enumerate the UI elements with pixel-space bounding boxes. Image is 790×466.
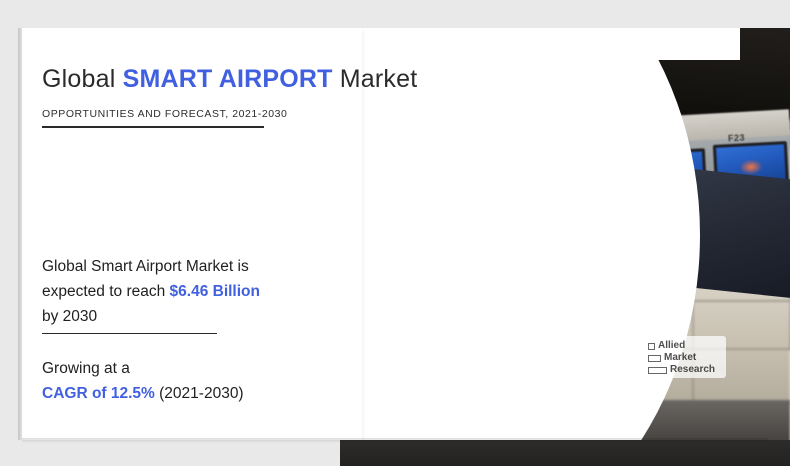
cagr-period: (2021-2030)	[155, 385, 244, 402]
logo-row-research: Research	[648, 365, 715, 375]
page-subtitle: OPPORTUNITIES AND FORECAST, 2021-2030	[42, 108, 287, 120]
title-suffix: Market	[333, 65, 418, 93]
cagr-statement: Growing at aCAGR of 12.5% (2021-2030)	[42, 356, 342, 406]
title-highlight: SMART AIRPORT	[123, 65, 333, 93]
logo-bar-1	[648, 343, 655, 350]
logo-text-research: Research	[670, 365, 715, 375]
market-value: $6.46 Billion	[170, 283, 260, 300]
title-prefix: Global	[42, 65, 123, 93]
logo-bar-3	[648, 367, 667, 374]
text-layer: Global SMART AIRPORT Market OPPORTUNITIE…	[0, 0, 790, 466]
market-value-statement: Global Smart Airport Market isexpected t…	[42, 254, 332, 329]
growth-label: Growing at a	[42, 360, 130, 377]
logo-text-allied: Allied	[658, 341, 685, 351]
market-line-3: by 2030	[42, 308, 97, 325]
logo-bar-2	[648, 355, 661, 362]
allied-market-research-logo[interactable]: Allied Market Research	[644, 336, 726, 388]
logo-text-market: Market	[664, 353, 696, 363]
page-title: Global SMART AIRPORT Market	[42, 65, 402, 94]
market-line-2-prefix: expected to reach	[42, 283, 170, 300]
section-divider	[42, 333, 217, 334]
logo-bubble-tail	[652, 377, 659, 388]
logo-row-allied: Allied	[648, 341, 685, 351]
logo-row-market: Market	[648, 353, 696, 363]
cagr-value: CAGR of 12.5%	[42, 385, 155, 402]
infographic-banner: F17 F19 F21 F23 Boarding	[0, 0, 790, 466]
market-line-1: Global Smart Airport Market is	[42, 258, 249, 275]
title-underline	[42, 126, 264, 128]
